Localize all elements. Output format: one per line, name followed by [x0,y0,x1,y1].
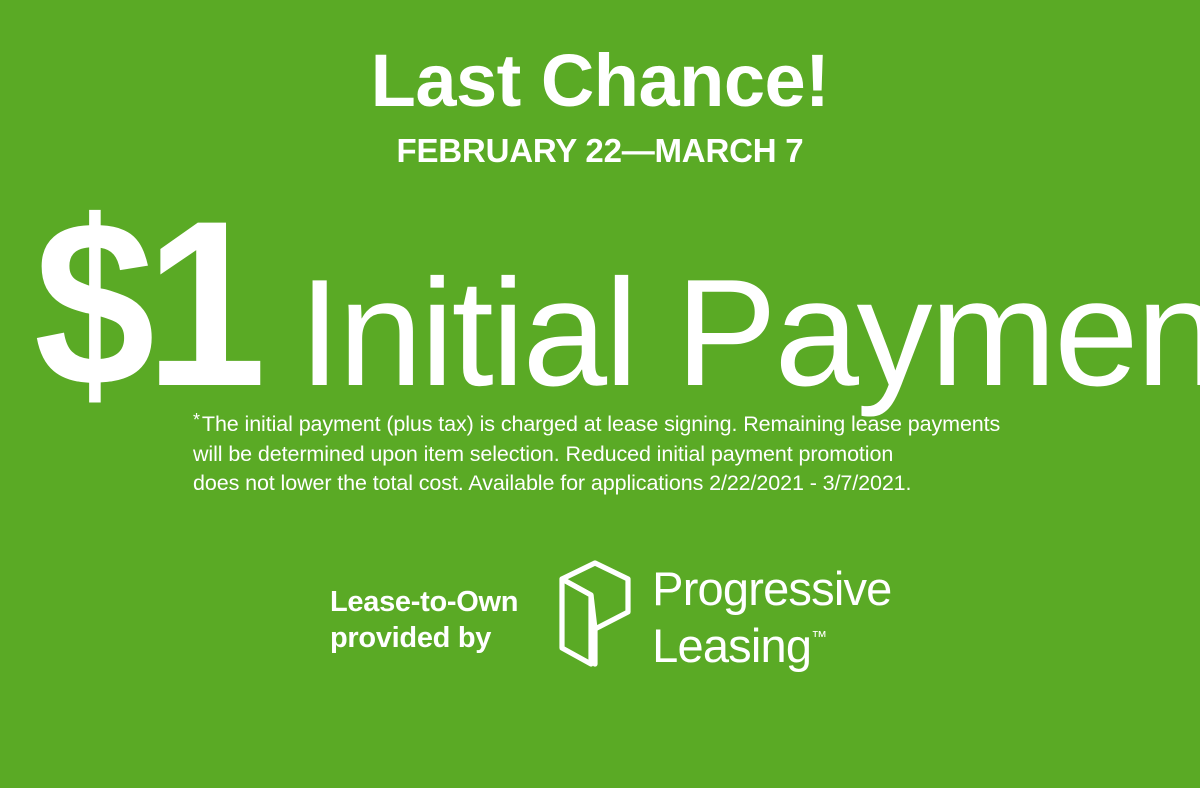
brand-lockup: Lease-to-Own provided by Progressive Lea… [330,556,892,673]
lockup-tagline-line-2: provided by [330,622,491,654]
promo-price: $1 [34,186,257,422]
disclaimer-line-2: will be determined upon item selection. … [193,442,893,466]
disclaimer-marker: * [193,410,200,430]
promo-price-label-text: Initial Payment [299,248,1200,418]
progressive-leasing-wordmark: Progressive Leasing™ [652,556,891,670]
lockup-tagline: Lease-to-Own provided by [330,556,518,656]
promo-banner: Last Chance! FEBRUARY 22—MARCH 7 $1 Init… [0,0,1200,788]
promo-disclaimer: *The initial payment (plus tax) is charg… [193,406,1093,499]
disclaimer-line-3: does not lower the total cost. Available… [193,471,911,495]
promo-hero: $1 Initial Payment* [0,186,1200,386]
disclaimer-line-1: The initial payment (plus tax) is charge… [202,412,1000,436]
promo-headline: Last Chance! [0,44,1200,118]
promo-dateline: FEBRUARY 22—MARCH 7 [0,134,1200,167]
progressive-p-isometric-icon [558,560,632,673]
wordmark-line-2: Leasing [652,619,811,672]
wordmark-line-1: Progressive [652,562,891,615]
trademark-symbol: ™ [811,629,827,646]
promo-price-label: Initial Payment* [299,257,1200,409]
lockup-tagline-line-1: Lease-to-Own [330,586,518,618]
promo-hero-inner: $1 Initial Payment* [34,186,1200,422]
